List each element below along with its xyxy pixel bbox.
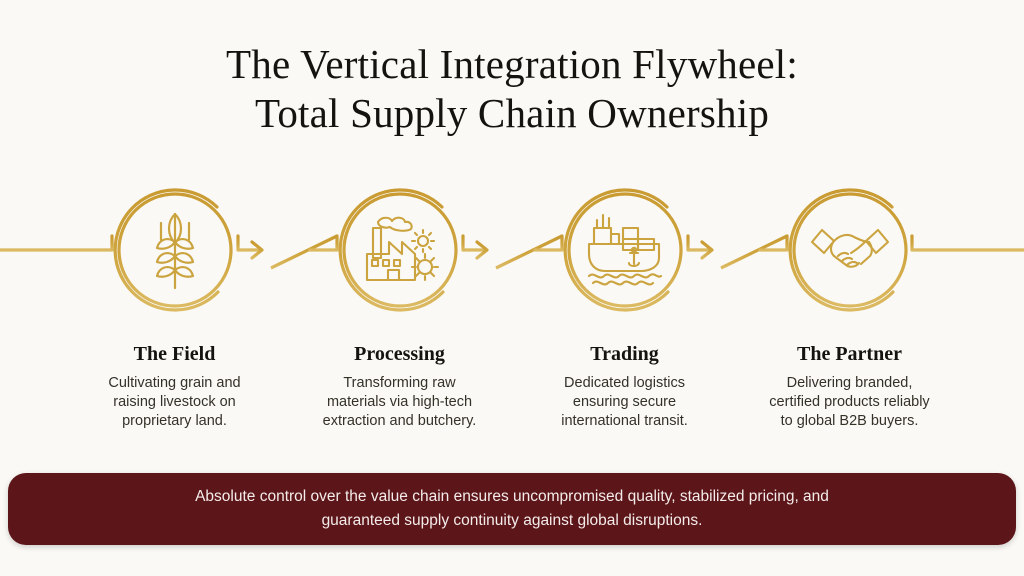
- connector-left-entry: [0, 236, 112, 250]
- step-desc-line: Transforming raw: [293, 374, 506, 393]
- summary-banner: Absolute control over the value chain en…: [8, 473, 1016, 545]
- slide-canvas: The Vertical Integration Flywheel: Total…: [0, 0, 1024, 576]
- step-desc-partner: Delivering branded, certified products r…: [737, 374, 962, 431]
- step-title-field: The Field: [62, 341, 287, 367]
- step-title-partner: The Partner: [737, 341, 962, 367]
- node-ring-inner-2: [344, 194, 456, 306]
- step-desc-line: Dedicated logistics: [518, 374, 731, 393]
- connector-right-exit: [912, 236, 1024, 250]
- step-processing[interactable]: Processing Transforming raw materials vi…: [287, 341, 512, 431]
- connector-1-diagonal: [271, 236, 337, 268]
- page-title: The Vertical Integration Flywheel: Total…: [0, 40, 1024, 138]
- step-desc-line: certified products reliably: [743, 393, 956, 412]
- connector-3-diagonal: [721, 236, 787, 268]
- step-desc-line: proprietary land.: [68, 412, 281, 431]
- cargo-ship-icon: [589, 215, 661, 284]
- step-trading[interactable]: Trading Dedicated logistics ensuring sec…: [512, 341, 737, 431]
- step-title-processing: Processing: [287, 341, 512, 367]
- step-desc-line: Delivering branded,: [743, 374, 956, 393]
- connector-2-diagonal: [496, 236, 562, 268]
- title-line-1: The Vertical Integration Flywheel:: [0, 40, 1024, 89]
- step-desc-line: international transit.: [518, 412, 731, 431]
- step-desc-line: to global B2B buyers.: [743, 412, 956, 431]
- factory-gears-icon: [367, 218, 438, 280]
- step-title-trading: Trading: [512, 341, 737, 367]
- step-desc-line: ensuring secure: [518, 393, 731, 412]
- step-desc-line: materials via high-tech: [293, 393, 506, 412]
- step-partner[interactable]: The Partner Delivering branded, certifie…: [737, 341, 962, 431]
- wheat-stalk-icon: [157, 214, 193, 288]
- node-ring-outer-1: [115, 190, 218, 310]
- node-ring-outer-4: [790, 190, 893, 310]
- node-ring-inner-4: [794, 194, 906, 306]
- node-ring-outer-2: [340, 190, 443, 310]
- step-field[interactable]: The Field Cultivating grain and raising …: [62, 341, 287, 431]
- step-desc-field: Cultivating grain and raising livestock …: [62, 374, 287, 431]
- steps-row: The Field Cultivating grain and raising …: [0, 341, 1024, 431]
- flywheel-diagram: [0, 150, 1024, 350]
- title-line-2: Total Supply Chain Ownership: [0, 89, 1024, 138]
- summary-banner-line-1: Absolute control over the value chain en…: [195, 485, 829, 509]
- step-desc-line: Cultivating grain and: [68, 374, 281, 393]
- summary-banner-line-2: guaranteed supply continuity against glo…: [195, 509, 829, 533]
- step-desc-trading: Dedicated logistics ensuring secure inte…: [512, 374, 737, 431]
- step-desc-line: raising livestock on: [68, 393, 281, 412]
- handshake-icon: [812, 230, 888, 267]
- step-desc-processing: Transforming raw materials via high-tech…: [287, 374, 512, 431]
- step-desc-line: extraction and butchery.: [293, 412, 506, 431]
- summary-banner-text: Absolute control over the value chain en…: [195, 485, 829, 533]
